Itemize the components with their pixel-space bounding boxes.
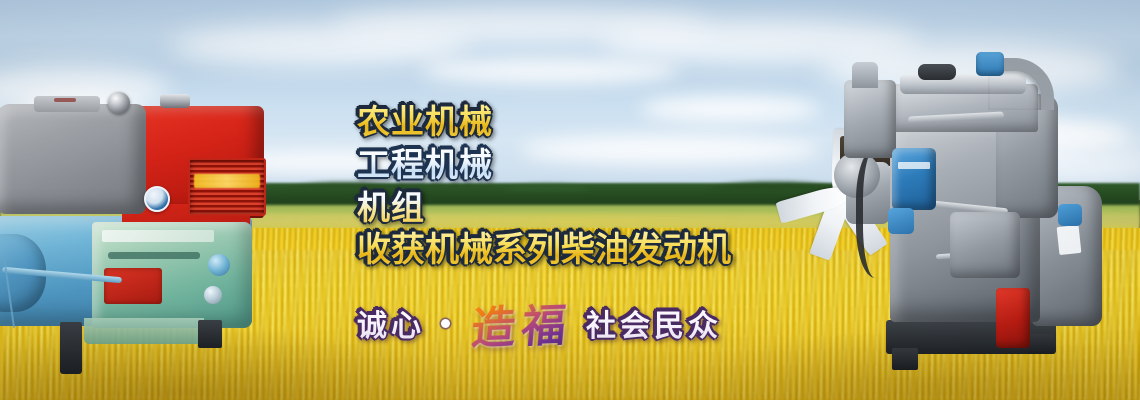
headline-block: 农业机械 工程机械 机组 收获机械系列柴油发动机 [357, 100, 777, 272]
fuel-tank-marking [54, 98, 76, 102]
grille-branding [194, 174, 260, 188]
tagline-suffix: 社会民众 [586, 301, 722, 345]
tagline-brush-word: 造福 [469, 289, 575, 356]
headline-line-3: 机组 [357, 186, 777, 229]
mounting-foot [892, 348, 918, 370]
air-cleaner [844, 80, 896, 158]
mounting-foot [198, 320, 222, 348]
blue-cap [1058, 204, 1082, 226]
product-hero-banner: 农业机械 工程机械 机组 收获机械系列柴油发动机 诚心 造福 社会民众 [0, 0, 1140, 400]
panel-label-strip [102, 230, 214, 242]
headline-line-4: 收获机械系列柴油发动机 [357, 229, 777, 272]
gray-fuel-tank [0, 104, 146, 214]
panel-slot [108, 252, 200, 259]
oil-filter-label [898, 162, 930, 169]
blue-round-badge [144, 186, 170, 212]
air-cleaner-inlet [852, 62, 878, 88]
red-nameplate [104, 268, 162, 304]
cloud [420, 58, 680, 84]
mounting-foot [60, 322, 82, 374]
oil-sump [84, 318, 204, 344]
headline-line-2: 工程机械 [357, 143, 777, 186]
intake-cap [976, 52, 1004, 76]
blue-oil-filter [892, 148, 936, 210]
product-image-single-cylinder-diesel-engine [0, 86, 272, 376]
headline-line-1: 农业机械 [357, 100, 777, 143]
tagline-prefix: 诚心 [357, 301, 425, 345]
product-image-multi-cylinder-diesel-engine [800, 36, 1140, 376]
chrome-filler-cap [108, 92, 130, 114]
red-fuel-filter [996, 288, 1030, 348]
tagline-separator-dot [441, 319, 450, 328]
injection-pump [950, 212, 1020, 278]
oil-filler-cap [918, 64, 956, 80]
chrome-fitting [160, 94, 190, 108]
chrome-fitting-small [204, 286, 222, 304]
blue-cap [888, 208, 914, 234]
spec-tag [1057, 225, 1082, 255]
tagline: 诚心 造福 社会民众 [357, 291, 722, 355]
mounting-foot [1028, 334, 1054, 354]
control-knob [208, 254, 230, 276]
